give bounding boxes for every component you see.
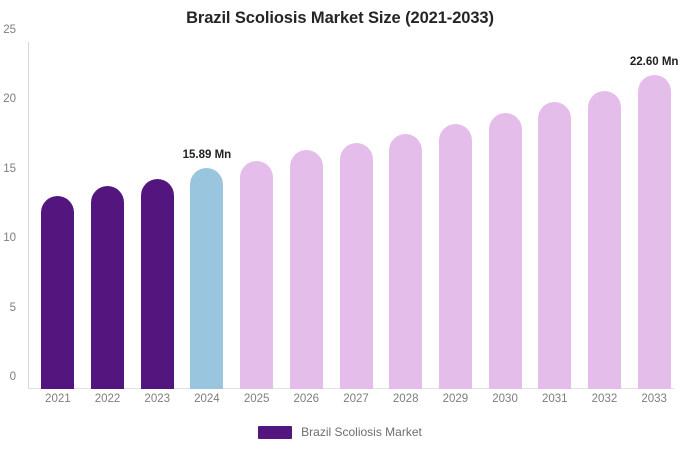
- y-axis-tick-25: 25: [0, 24, 16, 36]
- x-axis-tick-2030: 2030: [480, 393, 530, 405]
- x-axis-tick-2027: 2027: [331, 393, 381, 405]
- legend-swatch-brazil-scoliosis-market: [258, 426, 292, 439]
- bar-2025[interactable]: [240, 161, 273, 389]
- bar-2030[interactable]: [489, 113, 522, 389]
- bar-2033[interactable]: 22.60 Mn: [638, 75, 671, 389]
- bar-2031[interactable]: [538, 102, 571, 389]
- bar-fill-2028[interactable]: [389, 134, 422, 389]
- x-axis-tick-2025: 2025: [232, 393, 282, 405]
- bar-fill-2031[interactable]: [538, 102, 571, 389]
- legend-label-brazil-scoliosis-market: Brazil Scoliosis Market: [301, 425, 422, 439]
- bar-fill-2033[interactable]: [638, 75, 671, 389]
- bar-fill-2024[interactable]: [190, 168, 223, 389]
- bar-fill-2022[interactable]: [91, 186, 124, 389]
- bar-2022[interactable]: [91, 186, 124, 389]
- x-axis-tick-2031: 2031: [530, 393, 580, 405]
- x-axis-tick-2022: 2022: [83, 393, 133, 405]
- bar-2029[interactable]: [439, 124, 472, 389]
- x-axis-tick-2023: 2023: [132, 393, 182, 405]
- bar-fill-2027[interactable]: [340, 143, 373, 389]
- bar-2032[interactable]: [588, 91, 621, 389]
- bar-2028[interactable]: [389, 134, 422, 389]
- bar-fill-2026[interactable]: [290, 150, 323, 389]
- x-axis-tick-2021: 2021: [33, 393, 83, 405]
- x-axis-tick-2033: 2033: [629, 393, 679, 405]
- y-axis-tick-10: 10: [0, 232, 16, 244]
- bar-fill-2023[interactable]: [141, 179, 174, 389]
- x-axis-tick-2028: 2028: [381, 393, 431, 405]
- y-axis-tick-15: 15: [0, 163, 16, 175]
- chart-title: Brazil Scoliosis Market Size (2021-2033): [0, 9, 680, 28]
- x-axis-tick-2024: 2024: [182, 393, 232, 405]
- chart-container: Brazil Scoliosis Market Size (2021-2033)…: [0, 0, 680, 450]
- y-axis-line: [28, 42, 29, 389]
- x-axis-tick-2026: 2026: [281, 393, 331, 405]
- bar-2024[interactable]: 15.89 Mn: [190, 168, 223, 389]
- bar-value-label-2033: 22.60 Mn: [630, 56, 679, 68]
- bar-2027[interactable]: [340, 143, 373, 389]
- plot-area: 0510152025 15.89 Mn22.60 Mn: [28, 42, 674, 389]
- bar-fill-2030[interactable]: [489, 113, 522, 389]
- bar-fill-2021[interactable]: [41, 196, 74, 389]
- bar-2026[interactable]: [290, 150, 323, 389]
- bar-value-label-2024: 15.89 Mn: [183, 149, 232, 161]
- y-axis-tick-5: 5: [0, 302, 16, 314]
- y-axis-tick-0: 0: [0, 371, 16, 383]
- bar-fill-2032[interactable]: [588, 91, 621, 389]
- bar-2023[interactable]: [141, 179, 174, 389]
- bar-fill-2029[interactable]: [439, 124, 472, 389]
- bar-2021[interactable]: [41, 196, 74, 389]
- x-axis-tick-2029: 2029: [431, 393, 481, 405]
- chart-legend: Brazil Scoliosis Market: [0, 425, 680, 439]
- y-axis-tick-20: 20: [0, 93, 16, 105]
- bar-fill-2025[interactable]: [240, 161, 273, 389]
- x-axis-tick-2032: 2032: [580, 393, 630, 405]
